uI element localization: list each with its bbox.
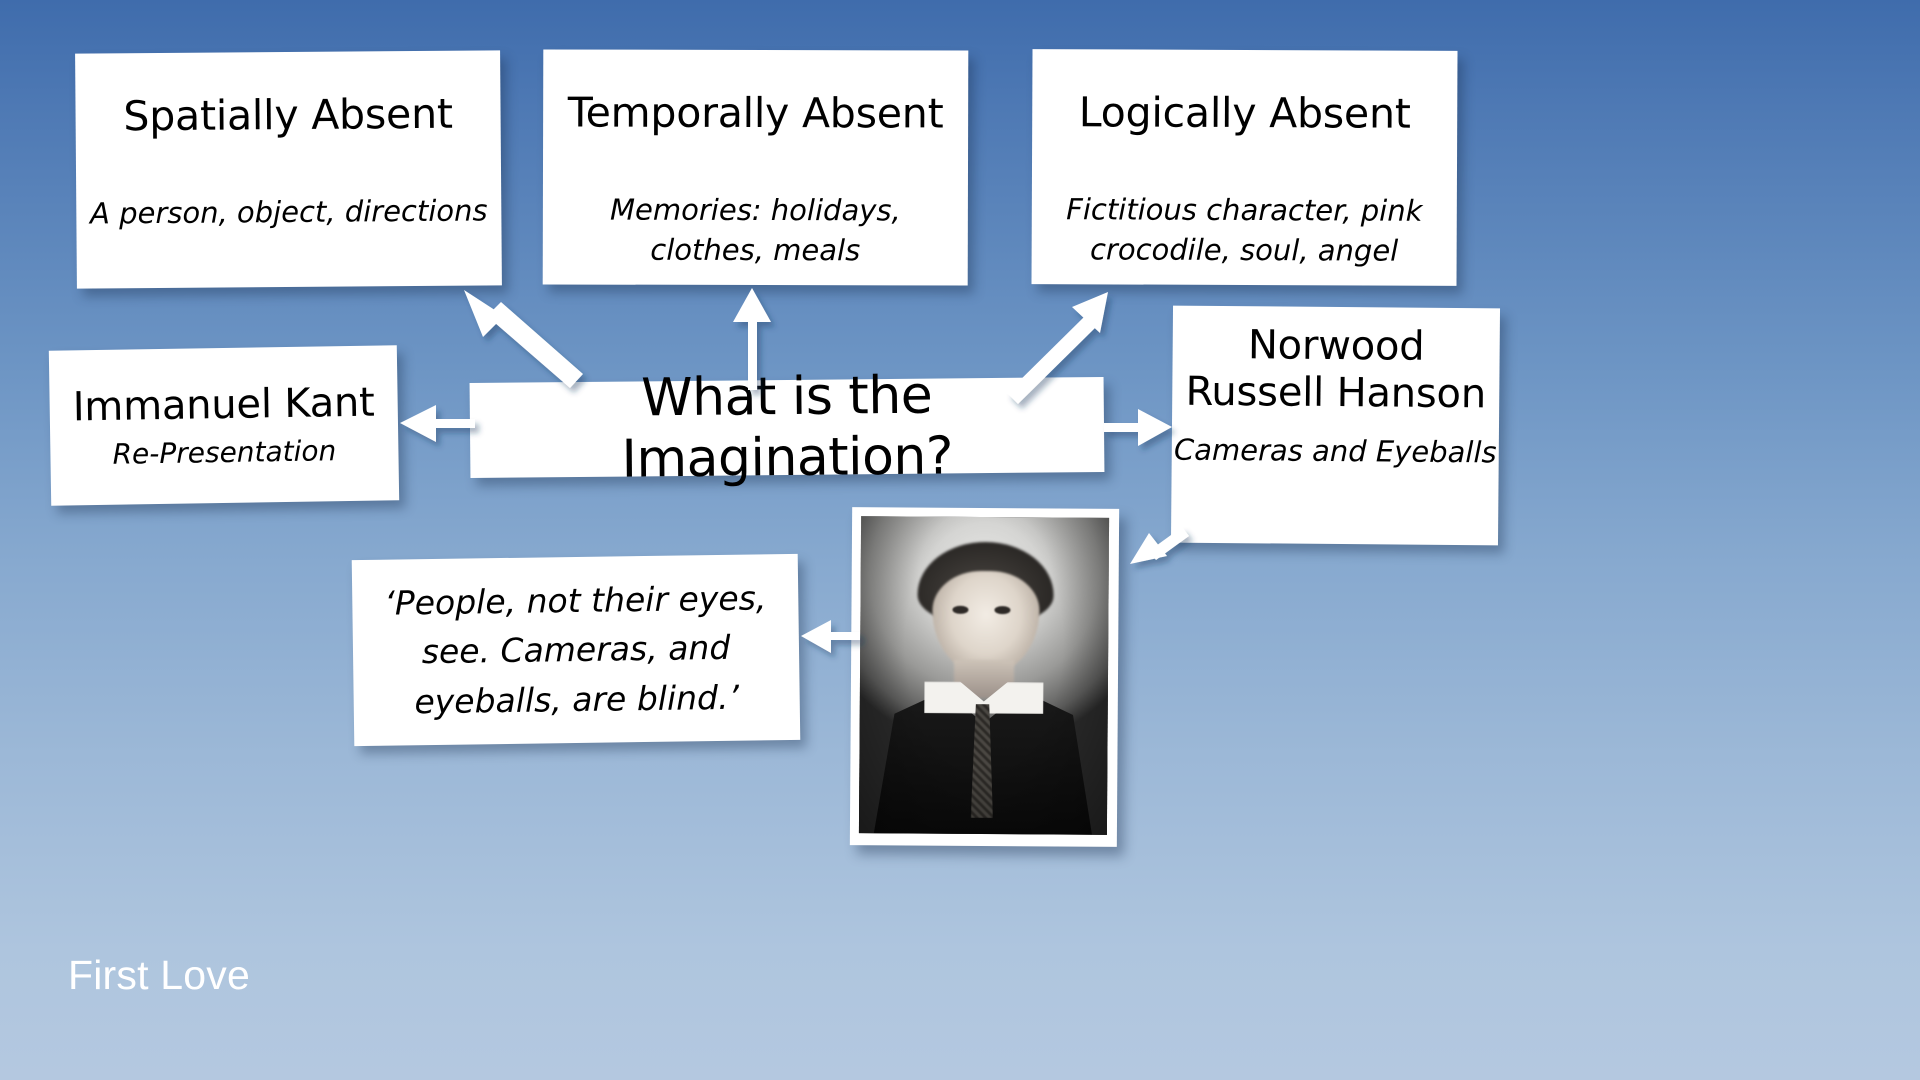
quote-text: ‘People, not their eyes, see. Cameras, a…	[352, 573, 800, 728]
card-hanson-quote[interactable]: ‘People, not their eyes, see. Cameras, a…	[352, 554, 801, 746]
photo-frame[interactable]	[850, 507, 1119, 847]
card-subtitle: Memories: holidays, clothes, meals	[555, 189, 956, 270]
card-title: Immanuel Kant	[72, 379, 375, 430]
footer-label: First Love	[68, 952, 250, 999]
card-subtitle: Re-Presentation	[112, 435, 336, 471]
card-subtitle: Cameras and Eyeballs	[1174, 432, 1497, 473]
card-subtitle: Fictitious character, pink crocodile, so…	[1044, 189, 1445, 271]
card-subtitle: A person, object, directions	[90, 190, 488, 233]
card-central-question[interactable]: What is the Imagination?	[470, 377, 1105, 478]
card-temporally-absent[interactable]: Temporally Absent Memories: holidays, cl…	[543, 49, 969, 285]
portrait-photo-image	[859, 516, 1109, 835]
card-logically-absent[interactable]: Logically Absent Fictitious character, p…	[1031, 49, 1457, 286]
card-title: Norwood Russell Hanson	[1172, 322, 1500, 419]
card-title: Spatially Absent	[123, 91, 453, 141]
arrow-center-to-norwood-russell-hanson	[1104, 409, 1172, 446]
card-spatially-absent[interactable]: Spatially Absent A person, object, direc…	[75, 50, 502, 288]
card-title: Logically Absent	[1079, 89, 1411, 138]
card-norwood-russell-hanson[interactable]: Norwood Russell Hanson Cameras and Eyeba…	[1171, 306, 1500, 546]
card-immanuel-kant[interactable]: Immanuel Kant Re-Presentation	[49, 345, 399, 505]
slide-canvas: Spatially Absent A person, object, direc…	[0, 0, 1920, 1080]
arrow-center-to-immanuel-kant	[400, 405, 475, 442]
card-title: What is the Imagination?	[469, 364, 1104, 491]
card-title: Temporally Absent	[568, 90, 944, 139]
